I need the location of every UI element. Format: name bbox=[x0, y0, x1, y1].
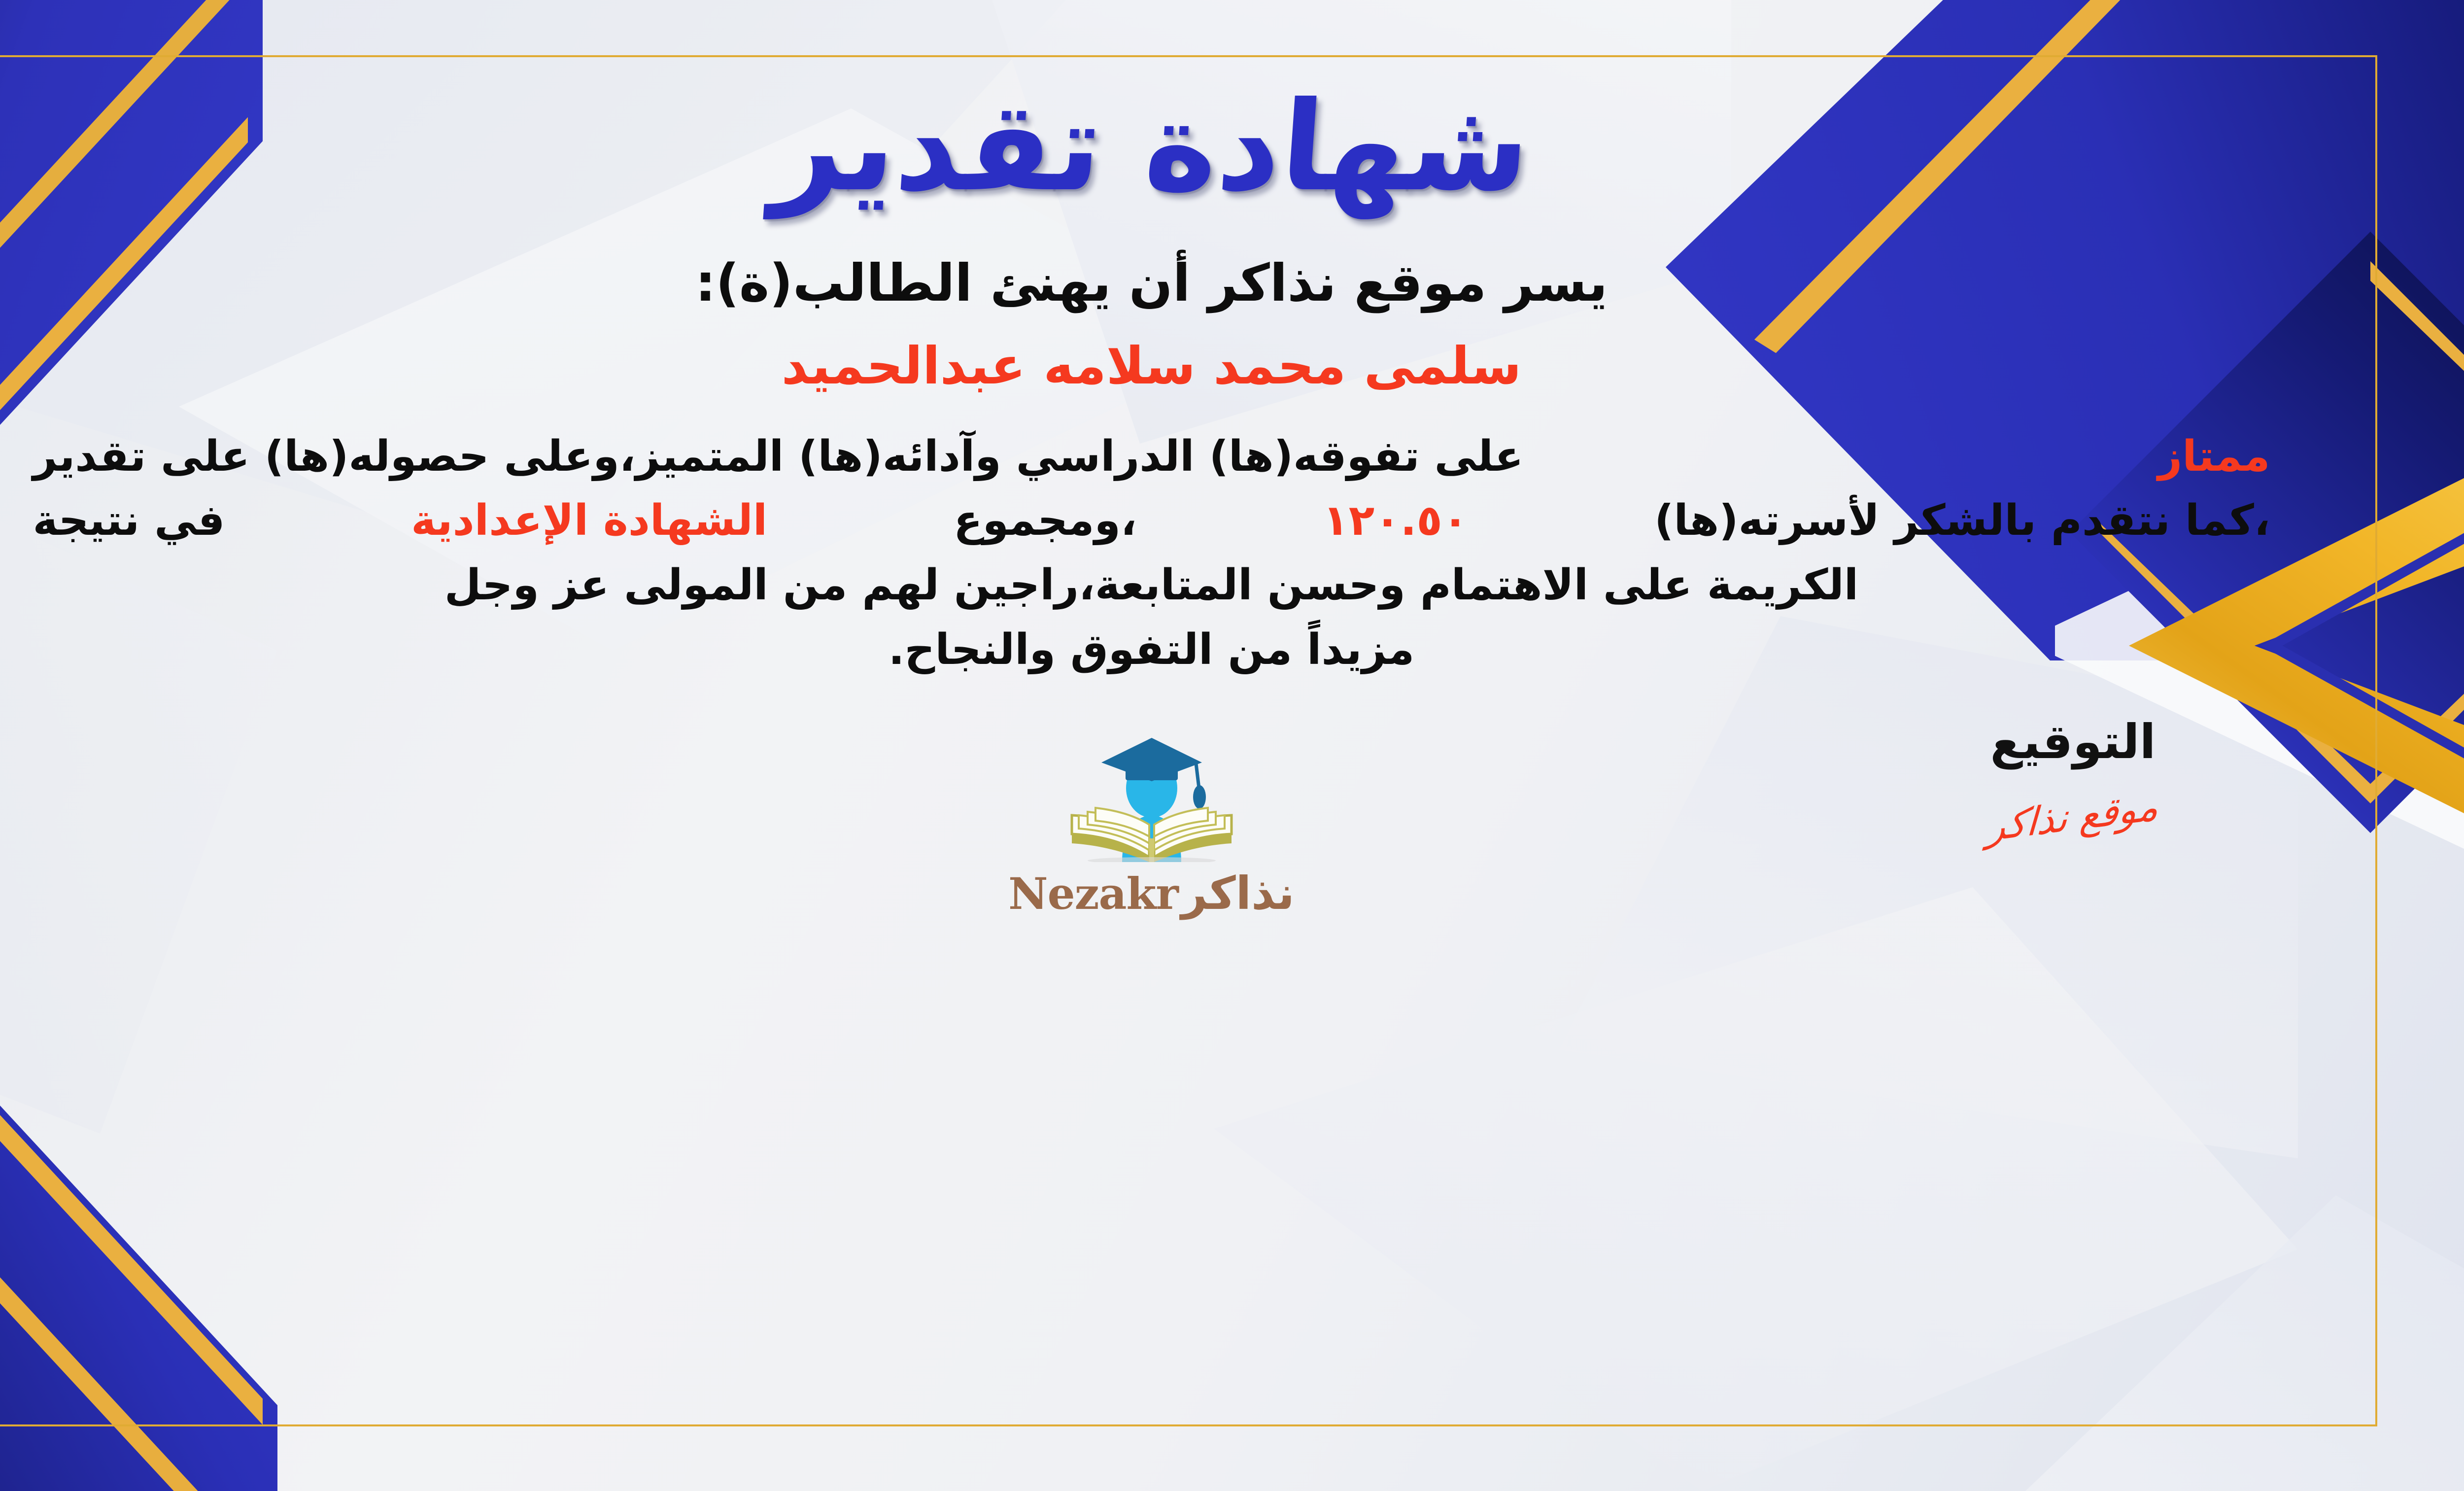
certificate-body: ممتاز على تفوقه(ها) الدراسي وآدائه(ها) ا… bbox=[33, 424, 2270, 682]
total-score-value: ١٢٠.٥٠ bbox=[1323, 488, 1468, 553]
body-line-2-head: في نتيجة bbox=[33, 488, 225, 553]
body-line-2-tail: ،كما نتقدم بالشكر لأسرته(ها) bbox=[1654, 488, 2270, 553]
body-line-3-text: الكريمة على الاهتمام وحسن المتابعة،راجين… bbox=[445, 553, 1858, 618]
body-line-4-text: مزيداً من التفوق والنجاح. bbox=[889, 618, 1414, 682]
signature-block: التوقيع موقع نذاكر bbox=[1935, 714, 2211, 839]
signature-and-logo-row: نذاكر Nezakr التوقيع موقع نذاكر bbox=[33, 714, 2270, 920]
greeting-line: يسر موقع نذاكر أن يهنئ الطالب(ة): bbox=[695, 253, 1608, 313]
brand-logo: نذاكر Nezakr bbox=[964, 714, 1339, 920]
body-line-4: مزيداً من التفوق والنجاح. bbox=[33, 618, 2270, 682]
graduate-book-logo-icon bbox=[1048, 714, 1255, 862]
grade-value: ممتاز bbox=[2158, 424, 2270, 489]
body-line-2: ،كما نتقدم بالشكر لأسرته(ها) ١٢٠.٥٠ ،ومج… bbox=[33, 488, 2270, 553]
certificate-content: شهادة تقدير يسر موقع نذاكر أن يهنئ الطال… bbox=[0, 55, 2377, 1426]
certificate-title: شهادة تقدير bbox=[768, 70, 1535, 224]
brand-wordmark: نذاكر Nezakr bbox=[1008, 867, 1295, 920]
student-name: سلمى محمد سلامه عبدالحميد bbox=[782, 336, 1522, 396]
brand-wordmark-latin: Nezakr bbox=[1008, 868, 1178, 919]
body-line-1-text: على تفوقه(ها) الدراسي وآدائه(ها) المتميز… bbox=[33, 424, 1524, 489]
signature-mark: موقع نذاكر bbox=[1986, 784, 2159, 850]
body-line-2-mid: ،ومجموع bbox=[954, 488, 1137, 553]
signature-label: التوقيع bbox=[1990, 714, 2156, 769]
body-line-3: الكريمة على الاهتمام وحسن المتابعة،راجين… bbox=[33, 553, 2270, 618]
certificate-page: شهادة تقدير يسر موقع نذاكر أن يهنئ الطال… bbox=[0, 0, 2464, 1491]
exam-name-value: الشهادة الإعدادية bbox=[411, 488, 767, 553]
brand-wordmark-arabic: نذاكر bbox=[1181, 867, 1295, 920]
body-line-1: ممتاز على تفوقه(ها) الدراسي وآدائه(ها) ا… bbox=[33, 424, 2270, 489]
